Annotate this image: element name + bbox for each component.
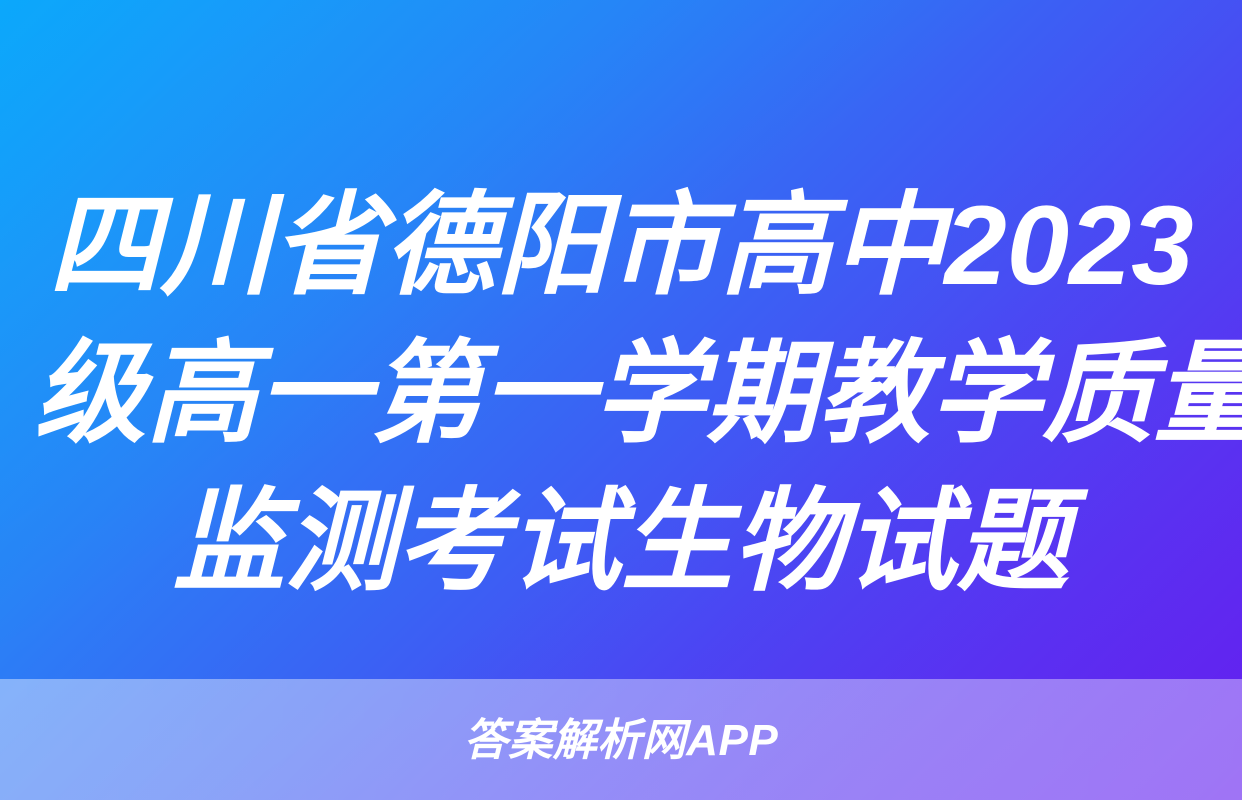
app-watermark-label: 答案解析网APP (464, 716, 778, 766)
page-title-line-1: 四川省德阳市高中2023 (34, 172, 1208, 320)
exam-cover-card: 四川省德阳市高中2023 级高一第一学期教学质量 监测考试生物试题 答案解析网A… (0, 0, 1242, 800)
page-title-line-3: 监测考试生物试题 (34, 468, 1208, 616)
footer-banner: 答案解析网APP (0, 679, 1242, 800)
page-title-line-2: 级高一第一学期教学质量 (34, 320, 1208, 468)
page-title: 四川省德阳市高中2023 级高一第一学期教学质量 监测考试生物试题 (0, 172, 1242, 616)
